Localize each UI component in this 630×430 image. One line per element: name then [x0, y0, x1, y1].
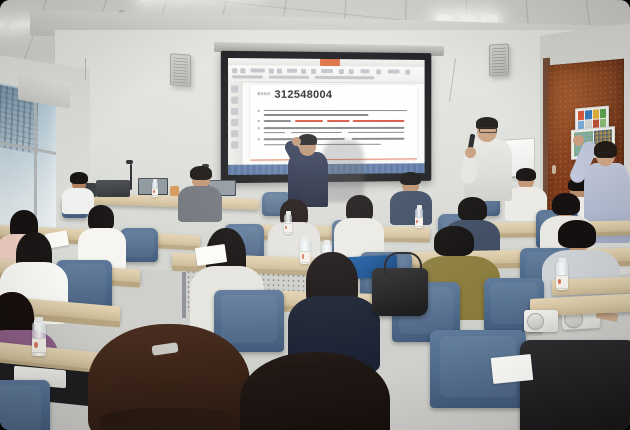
desk-leg — [182, 272, 186, 318]
glasses-icon — [597, 152, 614, 158]
doc-navigation-rail — [228, 81, 242, 164]
wall-speaker — [170, 53, 191, 86]
backpack — [520, 340, 630, 430]
handout-paper — [491, 354, 533, 384]
microphone-capsule — [126, 160, 133, 164]
camera — [524, 310, 558, 332]
doc-paragraph — [251, 85, 417, 86]
wall-cable — [85, 58, 87, 80]
presenter-hand — [465, 147, 476, 158]
foreground-hair-lower — [100, 408, 240, 430]
doc-paragraph — [251, 85, 417, 86]
doc-heading: 312548004 — [274, 88, 332, 100]
water-bottle — [32, 322, 46, 356]
water-bottle — [556, 262, 568, 290]
water-bottle — [284, 214, 292, 234]
handbag-handle — [384, 252, 422, 274]
glasses-icon — [479, 127, 497, 133]
doc-ribbon-toolbar — [228, 65, 425, 83]
handbag — [372, 268, 428, 316]
doc-paragraph — [251, 85, 417, 86]
presenter-hand — [292, 137, 301, 146]
pointing-hand — [573, 135, 584, 146]
water-bottle — [415, 208, 423, 228]
water-bottle — [300, 240, 310, 264]
classroom-photo: 服务热线 312548004 — [0, 0, 630, 430]
gooseneck-microphone — [130, 164, 132, 190]
doc-paragraph — [251, 85, 417, 86]
water-bottle — [152, 181, 158, 197]
chair[interactable] — [0, 380, 50, 430]
doc-heading-prefix: 服务热线 — [257, 91, 270, 95]
wall-speaker — [489, 43, 509, 76]
av-mixer — [96, 180, 130, 197]
presenter-shadow — [322, 140, 364, 202]
door-handle[interactable] — [552, 165, 556, 174]
